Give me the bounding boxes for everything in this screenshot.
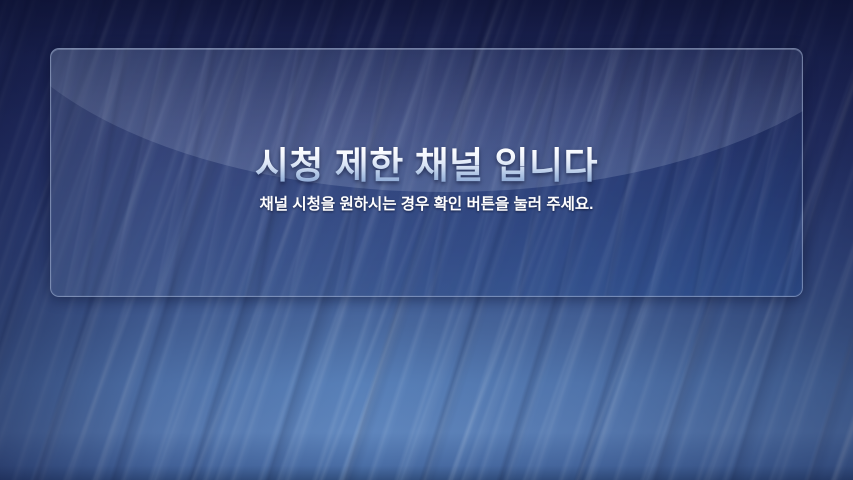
restricted-channel-dialog: 시청 제한 채널 입니다 채널 시청을 원하시는 경우 확인 버튼을 눌러 주세…	[50, 48, 803, 297]
tv-screen: 시청 제한 채널 입니다 채널 시청을 원하시는 경우 확인 버튼을 눌러 주세…	[0, 0, 853, 480]
dialog-subtitle: 채널 시청을 원하시는 경우 확인 버튼을 눌러 주세요.	[260, 197, 594, 213]
dialog-text-block: 시청 제한 채널 입니다 채널 시청을 원하시는 경우 확인 버튼을 눌러 주세…	[50, 48, 803, 297]
dialog-title: 시청 제한 채널 입니다	[255, 147, 598, 184]
